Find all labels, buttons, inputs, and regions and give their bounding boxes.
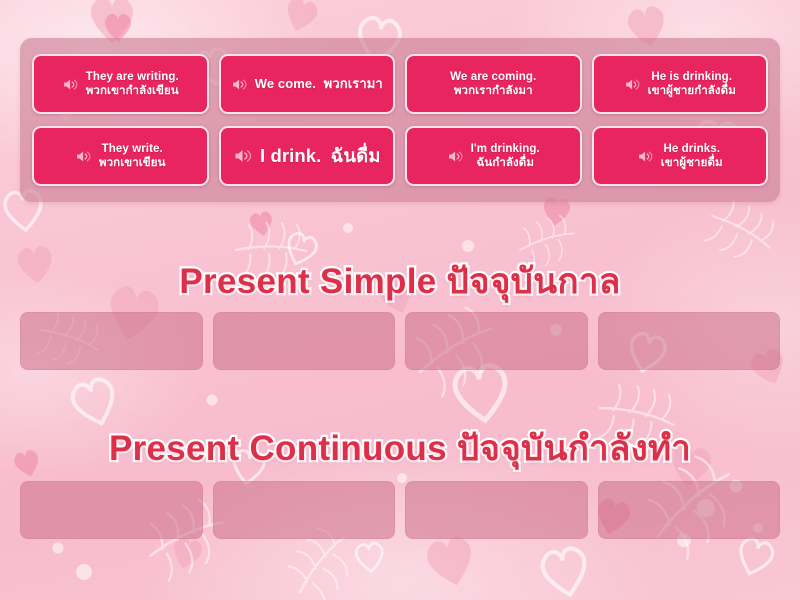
- word-card-we-are-coming[interactable]: We are coming. พวกเรากำลังมา: [405, 54, 582, 114]
- tray-row: They write. พวกเขาเขียน I drink. ฉันดื่ม: [32, 120, 768, 192]
- category-heading-present-continuous: Present Continuous ปัจจุบันกำลังทำ: [0, 421, 800, 476]
- drop-zone-present-simple: [20, 312, 780, 370]
- card-thai: พวกเขากำลังเขียน: [86, 84, 179, 98]
- card-thai: ฉันดื่ม: [331, 145, 381, 166]
- card-thai: พวกเขาเขียน: [99, 156, 166, 170]
- word-card-text: I'm drinking. ฉันกำลังดื่ม: [471, 142, 540, 171]
- drop-slot[interactable]: [405, 481, 588, 539]
- word-card-text: He drinks. เขาผู้ชายดื่ม: [661, 142, 723, 171]
- card-english: We are coming.: [450, 70, 536, 84]
- speaker-icon[interactable]: [75, 148, 92, 165]
- word-card-text: I drink. ฉันดื่ม: [260, 144, 381, 167]
- word-card-he-is-drinking[interactable]: He is drinking. เขาผู้ชายกำลังดื่ม: [592, 54, 769, 114]
- card-thai: เขาผู้ชายดื่ม: [661, 156, 723, 170]
- word-card-im-drinking[interactable]: I'm drinking. ฉันกำลังดื่ม: [405, 126, 582, 186]
- drop-slot[interactable]: [213, 481, 396, 539]
- card-english: They are writing.: [86, 70, 179, 84]
- card-english: I'm drinking.: [471, 142, 540, 156]
- word-card-he-drinks[interactable]: He drinks. เขาผู้ชายดื่ม: [592, 126, 769, 186]
- card-english: He drinks.: [661, 142, 723, 156]
- word-card-text: They are writing. พวกเขากำลังเขียน: [86, 70, 179, 99]
- card-thai: พวกเรามา: [324, 76, 383, 91]
- word-card-they-are-writing[interactable]: They are writing. พวกเขากำลังเขียน: [32, 54, 209, 114]
- speaker-icon[interactable]: [231, 76, 248, 93]
- speaker-icon[interactable]: [62, 76, 79, 93]
- card-english: He is drinking.: [648, 70, 736, 84]
- drop-zone-present-continuous: [20, 481, 780, 539]
- word-card-text: We are coming. พวกเรากำลังมา: [450, 70, 536, 99]
- card-english: I drink.: [260, 145, 321, 166]
- card-english: They write.: [99, 142, 166, 156]
- word-card-text: He is drinking. เขาผู้ชายกำลังดื่ม: [648, 70, 736, 99]
- word-card-we-come[interactable]: We come. พวกเรามา: [219, 54, 396, 114]
- drop-slot[interactable]: [20, 481, 203, 539]
- word-card-text: We come. พวกเรามา: [255, 76, 383, 92]
- card-thai: ฉันกำลังดื่ม: [471, 156, 540, 170]
- category-heading-present-simple: Present Simple ปัจจุบันกาล: [0, 254, 800, 309]
- card-thai: เขาผู้ชายกำลังดื่ม: [648, 84, 736, 98]
- tray-row: They are writing. พวกเขากำลังเขียน We co…: [32, 48, 768, 120]
- drop-slot[interactable]: [213, 312, 396, 370]
- speaker-icon[interactable]: [637, 148, 654, 165]
- speaker-icon[interactable]: [233, 146, 253, 166]
- word-card-they-write[interactable]: They write. พวกเขาเขียน: [32, 126, 209, 186]
- speaker-icon[interactable]: [447, 148, 464, 165]
- drop-slot[interactable]: [405, 312, 588, 370]
- speaker-icon[interactable]: [624, 76, 641, 93]
- card-thai: พวกเรากำลังมา: [450, 84, 536, 98]
- drop-slot[interactable]: [598, 481, 781, 539]
- word-cards-tray: They are writing. พวกเขากำลังเขียน We co…: [20, 38, 780, 202]
- word-card-i-drink[interactable]: I drink. ฉันดื่ม: [219, 126, 396, 186]
- card-english: We come.: [255, 76, 316, 91]
- word-card-text: They write. พวกเขาเขียน: [99, 142, 166, 171]
- drop-slot[interactable]: [598, 312, 781, 370]
- drop-slot[interactable]: [20, 312, 203, 370]
